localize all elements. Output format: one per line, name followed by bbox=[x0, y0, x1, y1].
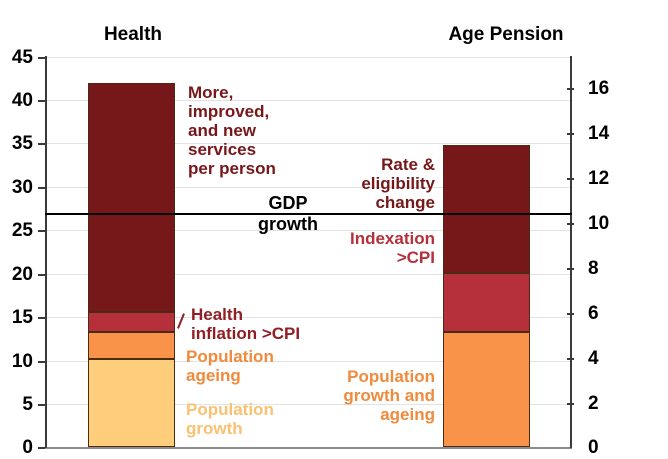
annotation-more-services-line5: per person bbox=[188, 159, 318, 178]
left-tick-label-35: 35 bbox=[0, 134, 33, 153]
gridline-45 bbox=[45, 57, 572, 58]
health-inflation-leader-line bbox=[177, 313, 185, 329]
left-tick-30 bbox=[38, 187, 45, 189]
column-title-age-pension: Age Pension bbox=[406, 24, 606, 46]
right-tick-10 bbox=[567, 223, 574, 225]
right-tick-label-0: 0 bbox=[588, 438, 628, 457]
right-tick-label-8: 8 bbox=[588, 259, 628, 278]
left-tick-label-25: 25 bbox=[0, 221, 33, 240]
left-tick-40 bbox=[38, 100, 45, 102]
left-tick-45 bbox=[38, 57, 45, 59]
annotation-rate-eligibility-line2: eligibility bbox=[300, 174, 435, 193]
column-title-health: Health bbox=[58, 24, 208, 46]
bar-pension-segment-population-growth-ageing[interactable] bbox=[443, 332, 530, 447]
bar-health-segment-population-ageing[interactable] bbox=[88, 332, 175, 359]
annotation-pop-growth-ageing-line2: growth and bbox=[300, 386, 435, 405]
right-tick-label-6: 6 bbox=[588, 304, 628, 323]
right-tick-label-14: 14 bbox=[588, 124, 628, 143]
annotation-health-inflation-line2: inflation >CPI bbox=[191, 324, 351, 343]
left-tick-label-30: 30 bbox=[0, 178, 33, 197]
bar-health-segment-more-services[interactable] bbox=[88, 83, 175, 312]
left-tick-label-40: 40 bbox=[0, 91, 33, 110]
left-tick-label-20: 20 bbox=[0, 265, 33, 284]
annotation-more-services-line4: services bbox=[188, 140, 318, 159]
right-tick-2 bbox=[567, 403, 574, 405]
annotation-pop-growth-ageing-line1: Population bbox=[300, 367, 435, 386]
left-tick-label-10: 10 bbox=[0, 352, 33, 371]
annotation-pop-growth-ageing-line3: ageing bbox=[300, 405, 435, 424]
annotation-population-ageing-line1: Population bbox=[186, 347, 346, 366]
bar-pension-segment-rate-eligibility[interactable] bbox=[443, 145, 530, 273]
left-tick-0 bbox=[38, 447, 45, 449]
left-tick-20 bbox=[38, 274, 45, 276]
annotation-more-services-line3: and new bbox=[188, 121, 318, 140]
left-tick-15 bbox=[38, 317, 45, 319]
left-tick-label-45: 45 bbox=[0, 48, 33, 67]
annotation-rate-eligibility-line1: Rate & bbox=[300, 155, 435, 174]
annotation-more-services-line1: More, bbox=[188, 83, 318, 102]
bar-pension-segment-indexation[interactable] bbox=[443, 273, 530, 332]
right-axis-line bbox=[570, 56, 572, 448]
left-tick-label-5: 5 bbox=[0, 395, 33, 414]
annotation-rate-eligibility: Rate & eligibility change bbox=[300, 155, 435, 212]
annotation-rate-eligibility-line3: change bbox=[300, 193, 435, 212]
bar-health-segment-population-growth[interactable] bbox=[88, 359, 175, 447]
axis-baseline bbox=[45, 447, 572, 449]
right-tick-16 bbox=[567, 88, 574, 90]
right-tick-label-12: 12 bbox=[588, 169, 628, 188]
left-tick-35 bbox=[38, 143, 45, 145]
bar-health-segment-health-inflation[interactable] bbox=[88, 312, 175, 332]
right-tick-label-4: 4 bbox=[588, 349, 628, 368]
left-axis-line bbox=[45, 56, 47, 448]
right-tick-12 bbox=[567, 178, 574, 180]
left-tick-5 bbox=[38, 404, 45, 406]
right-tick-14 bbox=[567, 133, 574, 135]
right-tick-8 bbox=[567, 268, 574, 270]
right-tick-label-10: 10 bbox=[588, 214, 628, 233]
left-tick-label-15: 15 bbox=[0, 308, 33, 327]
left-tick-10 bbox=[38, 361, 45, 363]
left-tick-25 bbox=[38, 230, 45, 232]
annotation-indexation-line2: >CPI bbox=[300, 248, 435, 267]
chart-root: Health Age Pension 45 40 35 30 25 20 15 … bbox=[0, 0, 668, 459]
left-tick-label-0: 0 bbox=[0, 438, 33, 457]
right-tick-6 bbox=[567, 313, 574, 315]
annotation-indexation: Indexation >CPI bbox=[300, 229, 435, 267]
annotation-health-inflation-line1: Health bbox=[191, 305, 351, 324]
annotation-more-services: More, improved, and new services per per… bbox=[188, 83, 318, 178]
annotation-more-services-line2: improved, bbox=[188, 102, 318, 121]
annotation-pop-growth-ageing: Population growth and ageing bbox=[300, 367, 435, 424]
annotation-health-inflation: Health inflation >CPI bbox=[191, 305, 351, 343]
annotation-indexation-line1: Indexation bbox=[300, 229, 435, 248]
right-tick-label-16: 16 bbox=[588, 79, 628, 98]
right-tick-4 bbox=[567, 358, 574, 360]
right-tick-label-2: 2 bbox=[588, 394, 628, 413]
